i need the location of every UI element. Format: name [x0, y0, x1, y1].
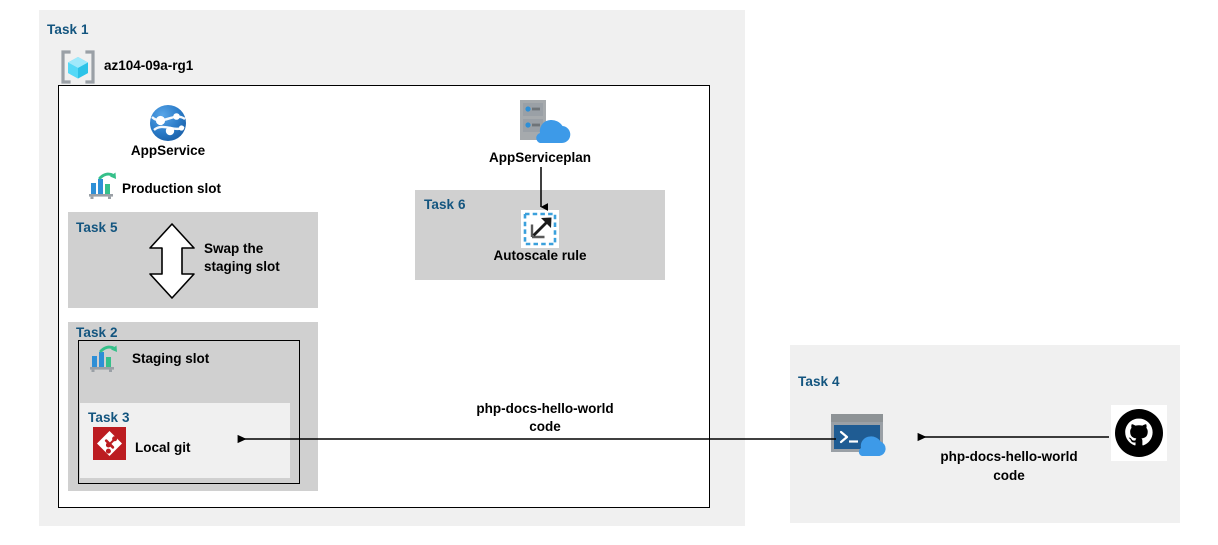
cloud-shell-icon — [831, 414, 899, 460]
task2-label: Task 2 — [76, 325, 118, 340]
github-to-cloudshell-label-line2: code — [923, 468, 1095, 485]
app-service-globe-icon — [148, 103, 188, 143]
app-service-plan-icon — [512, 98, 570, 146]
deployment-slot-icon — [89, 345, 119, 373]
appserviceplan-label: AppServiceplan — [455, 150, 625, 167]
staging-slot-label: Staging slot — [132, 351, 209, 368]
appservice-label: AppService — [108, 143, 228, 160]
git-repository-icon — [93, 427, 126, 460]
task6-label: Task 6 — [424, 197, 466, 212]
local-git-label: Local git — [135, 440, 191, 457]
resource-group-name: az104-09a-rg1 — [104, 58, 193, 75]
task5-caption-line1: Swap the — [204, 241, 263, 258]
resource-group-cube-icon — [60, 50, 96, 84]
task5-label: Task 5 — [76, 220, 118, 235]
github-to-cloudshell-label-line1: php-docs-hello-world — [923, 449, 1095, 466]
autoscale-rule-label: Autoscale rule — [455, 248, 625, 265]
github-octocat-icon — [1111, 405, 1167, 461]
cloudshell-to-localgit-label-line2: code — [460, 419, 630, 436]
diagram-canvas: Task 1 az104-09a-rg1 — [0, 0, 1218, 545]
task5-caption-line2: staging slot — [204, 259, 280, 276]
production-slot-label: Production slot — [122, 181, 221, 198]
autoscale-rule-icon — [521, 210, 559, 248]
deployment-slot-icon — [88, 172, 118, 200]
task1-label: Task 1 — [47, 22, 89, 37]
task4-label: Task 4 — [798, 374, 840, 389]
task3-label: Task 3 — [88, 410, 130, 425]
double-headed-vertical-arrow-icon — [146, 222, 198, 300]
cloudshell-to-localgit-label-line1: php-docs-hello-world — [460, 401, 630, 418]
